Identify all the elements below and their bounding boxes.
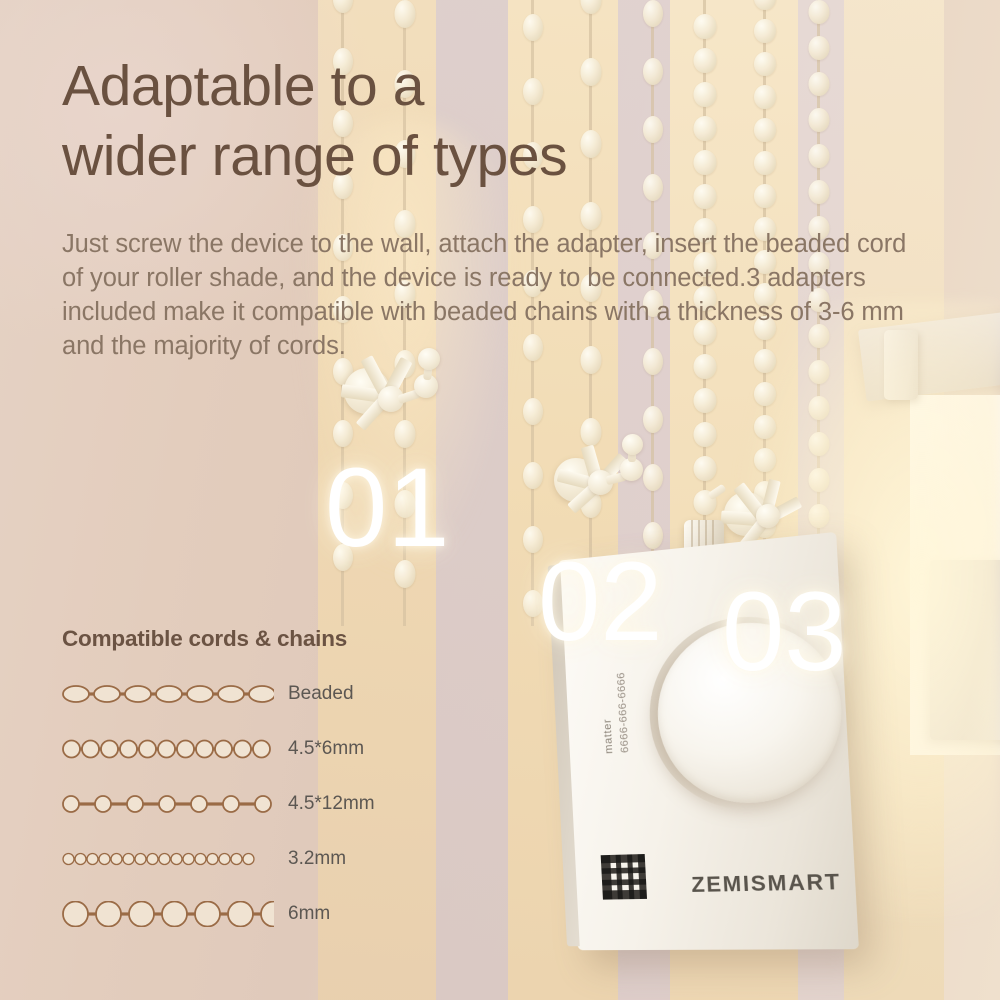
- chain-diagram: [62, 791, 274, 817]
- cord-label: 6mm: [288, 903, 330, 925]
- device-serial-number: 6666-666-6666: [615, 672, 631, 754]
- strand-bead: [754, 52, 776, 76]
- compatible-cords-title: Compatible cords & chains: [62, 626, 462, 652]
- strand-bead: [809, 108, 830, 132]
- cord-row: 4.5*6mm: [62, 729, 462, 768]
- cord-label: Beaded: [288, 683, 354, 705]
- adapter-02-graphic: [538, 440, 658, 530]
- headline-line-1: Adaptable to a: [62, 54, 424, 118]
- strand-bead: [581, 202, 602, 230]
- step-number-01: 01: [325, 452, 450, 564]
- brand-logo: ZEMISMART: [691, 870, 842, 898]
- strand-bead: [643, 406, 663, 433]
- strand-bead: [694, 14, 717, 39]
- strand-bead: [694, 388, 717, 413]
- body-paragraph: Just screw the device to the wall, attac…: [62, 228, 932, 364]
- strand-bead: [643, 0, 663, 27]
- chain-diagram: [62, 681, 274, 707]
- step-number-02: 02: [538, 546, 663, 658]
- product-marketing-image: matter 6666-666-6666 ZEMISMART Adaptable…: [0, 0, 1000, 1000]
- cord-row: 6mm: [62, 894, 462, 933]
- strand-bead: [754, 85, 776, 109]
- strand-bead: [333, 0, 353, 13]
- matter-logo-label: matter: [602, 718, 616, 754]
- strand-bead: [523, 398, 543, 425]
- strand-bead: [754, 184, 776, 208]
- strand-bead: [694, 422, 717, 447]
- step-number-03: 03: [722, 576, 847, 688]
- strand-bead: [809, 144, 830, 168]
- cord-row: 4.5*12mm: [62, 784, 462, 823]
- compatible-cords-list: Beaded4.5*6mm4.5*12mm3.2mm6mm: [62, 674, 462, 933]
- strand-bead: [809, 180, 830, 204]
- strand-bead: [809, 72, 830, 96]
- cord-label: 3.2mm: [288, 848, 346, 870]
- strand-bead: [809, 36, 830, 60]
- strand-bead: [754, 151, 776, 175]
- headline-line-2: wider range of types: [62, 122, 742, 192]
- adapter-01-graphic: [322, 352, 452, 442]
- chain-diagram: [62, 901, 274, 927]
- cord-label: 4.5*6mm: [288, 738, 364, 760]
- qr-code: [601, 854, 647, 900]
- strand-bead: [754, 118, 776, 142]
- strand-bead: [581, 0, 602, 14]
- strand-bead: [395, 0, 416, 28]
- cord-row: 3.2mm: [62, 839, 462, 878]
- page-headline: Adaptable to a wider range of types: [62, 52, 742, 191]
- chain-diagram: [62, 846, 274, 872]
- strand-bead: [523, 14, 543, 41]
- cord-label: 4.5*12mm: [288, 793, 375, 815]
- compatible-cords-section: Compatible cords & chains Beaded4.5*6mm4…: [62, 626, 462, 949]
- cord-row: Beaded: [62, 674, 462, 713]
- strand-bead: [754, 19, 776, 43]
- chain-diagram: [62, 736, 274, 762]
- strand-bead: [809, 0, 830, 24]
- strand-bead: [754, 0, 776, 10]
